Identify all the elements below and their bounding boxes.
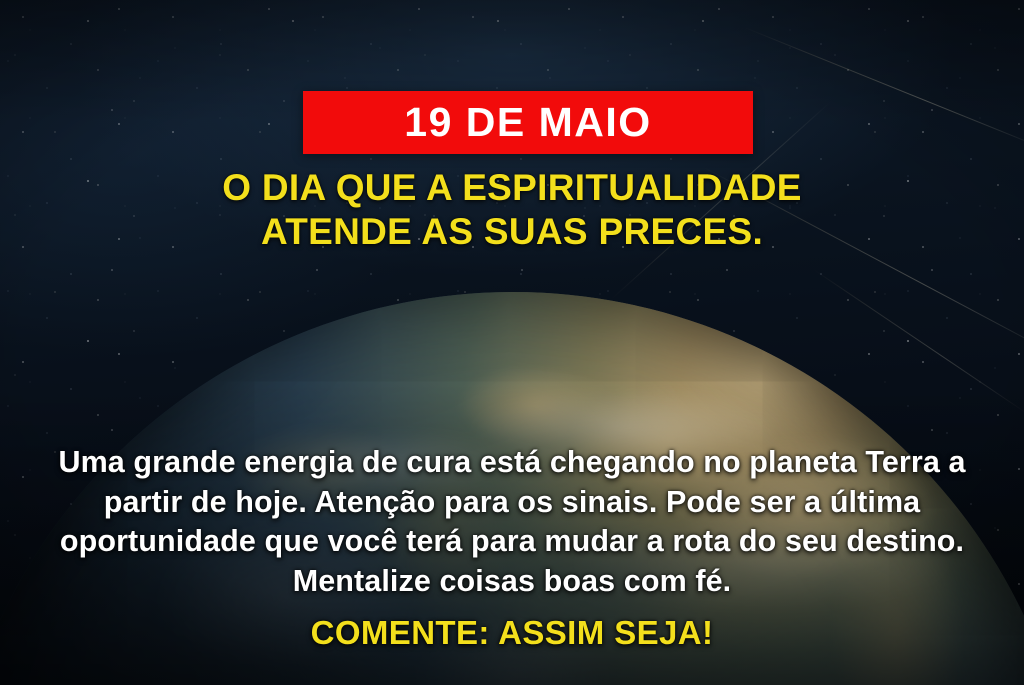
body-paragraph: Uma grande energia de cura está chegando… <box>52 443 972 602</box>
poster-content: 19 DE MAIO O DIA QUE A ESPIRITUALIDADE A… <box>0 0 1024 685</box>
headline-line-2: ATENDE AS SUAS PRECES. <box>40 210 984 254</box>
headline: O DIA QUE A ESPIRITUALIDADE ATENDE AS SU… <box>0 166 1024 253</box>
call-to-action-text: COMENTE: ASSIM SEJA! <box>0 614 1024 652</box>
date-banner-label: 19 DE MAIO <box>404 102 651 143</box>
headline-line-1: O DIA QUE A ESPIRITUALIDADE <box>40 166 984 210</box>
date-banner: 19 DE MAIO <box>303 91 753 154</box>
poster-canvas: 19 DE MAIO O DIA QUE A ESPIRITUALIDADE A… <box>0 0 1024 685</box>
